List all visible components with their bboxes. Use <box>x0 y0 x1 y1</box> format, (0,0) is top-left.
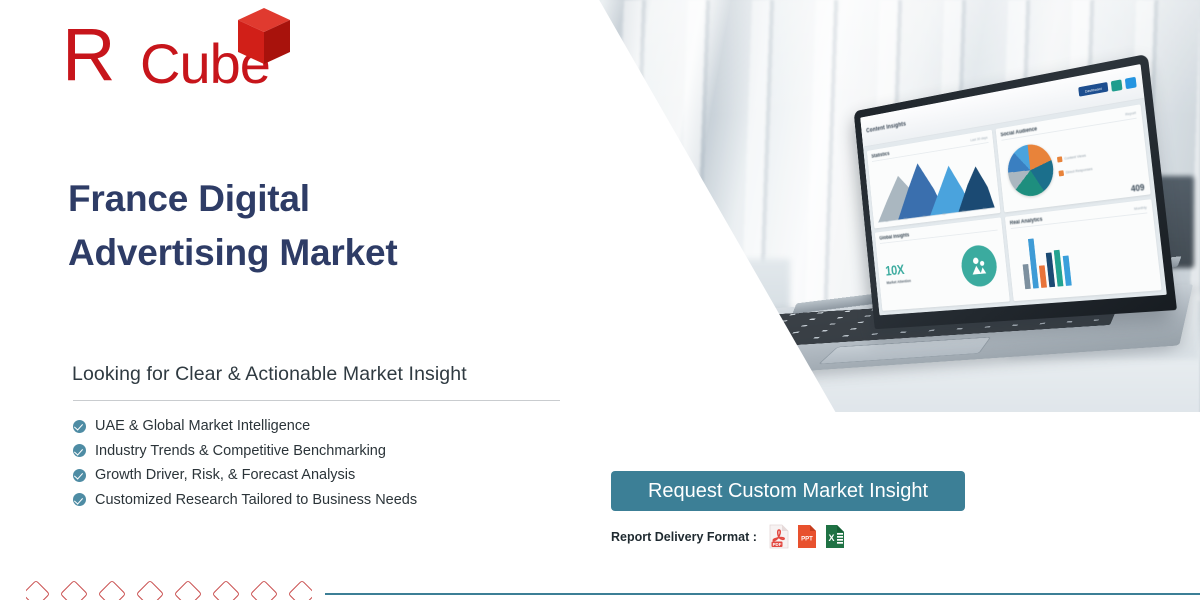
subheading-divider <box>73 400 585 401</box>
panel-title: Real Analytics <box>1010 217 1043 226</box>
red-3d-cube-icon <box>234 6 292 68</box>
laptop: Content Insights Dashboard Statistics <box>775 48 1195 378</box>
logo-letter: Я <box>62 18 115 92</box>
legend-swatch <box>1057 156 1063 162</box>
panel-subtitle: Report <box>1125 110 1136 117</box>
legend-item: Content Views <box>1057 152 1092 163</box>
tick-label: Feb <box>904 216 908 220</box>
pie-chart-panel: Social Audience Report Content Views <box>995 104 1151 212</box>
report-delivery-format-label: Report Delivery Format : <box>611 530 757 544</box>
logo[interactable]: Я Cube <box>62 6 312 102</box>
svg-text:X: X <box>828 533 834 543</box>
tick-label: Mar <box>923 214 927 218</box>
tick-label: Jan <box>885 219 889 223</box>
chevron-icon <box>174 580 202 600</box>
feature-list: UAE & Global Market Intelligence Industr… <box>73 418 543 516</box>
page-title: France Digital Advertising Market <box>68 172 538 280</box>
metric-body: 10X Market Attention <box>880 232 1004 305</box>
check-circle-icon <box>73 469 86 482</box>
legend-item: Direct Responses <box>1058 166 1093 176</box>
bar-chart <box>1011 215 1156 295</box>
metric-panel: Global Insights 10X Market Attention <box>875 217 1010 311</box>
panel-title: Global Insights <box>879 233 909 242</box>
svg-text:PDF: PDF <box>772 542 781 547</box>
pdf-glyph: PDF <box>769 524 789 549</box>
excel-icon[interactable]: X <box>825 524 845 549</box>
chevron-icon <box>26 580 50 600</box>
bar <box>1022 264 1030 290</box>
dashboard-title: Content Insights <box>866 121 906 134</box>
pie-chart-graphic <box>1005 141 1055 199</box>
people-group-glyph <box>968 255 990 276</box>
excel-glyph: X <box>825 524 845 549</box>
bar <box>1053 250 1063 286</box>
blue-icon-button[interactable] <box>1125 77 1137 89</box>
report-delivery-format: Report Delivery Format : PDF PPT <box>611 524 845 549</box>
dashboard-buttons: Dashboard <box>1078 77 1137 98</box>
bar <box>1045 252 1054 287</box>
pie-chart-value: 409 <box>1130 182 1145 193</box>
chevron-icon <box>98 580 126 600</box>
dashboard: Content Insights Dashboard Statistics <box>860 64 1167 315</box>
chevron-icon <box>60 580 88 600</box>
ppt-icon[interactable]: PPT <box>797 524 817 549</box>
primary-action-button[interactable]: Dashboard <box>1078 82 1108 97</box>
legend-swatch <box>1058 170 1064 176</box>
laptop-screen: Content Insights Dashboard Statistics <box>854 54 1177 329</box>
list-item-label: Customized Research Tailored to Business… <box>95 492 417 508</box>
pdf-icon[interactable]: PDF <box>769 524 789 549</box>
tick-label: Apr <box>942 212 946 216</box>
list-item: Growth Driver, Risk, & Forecast Analysis <box>73 467 543 483</box>
ppt-glyph: PPT <box>797 524 817 549</box>
list-item: UAE & Global Market Intelligence <box>73 418 543 434</box>
list-item-label: UAE & Global Market Intelligence <box>95 418 310 434</box>
legend-label: Direct Responses <box>1066 166 1093 174</box>
chevron-icon <box>288 580 312 600</box>
tick-label: Jun <box>982 206 986 210</box>
hero-bottom-mask <box>560 412 1200 426</box>
chevron-icon <box>250 580 278 600</box>
tick-label: May <box>962 209 967 213</box>
teal-icon-button[interactable] <box>1111 79 1123 91</box>
list-item-label: Growth Driver, Risk, & Forecast Analysis <box>95 467 355 483</box>
request-custom-market-insight-button[interactable]: Request Custom Market Insight <box>611 471 965 511</box>
bar <box>1039 266 1047 288</box>
list-item: Industry Trends & Competitive Benchmarki… <box>73 443 543 459</box>
pie-chart-legend: Content Views Direct Responses <box>1057 152 1093 177</box>
panel-subtitle: Monthly <box>1134 205 1147 211</box>
list-item: Customized Research Tailored to Business… <box>73 492 543 508</box>
metric-text: 10X Market Attention <box>882 257 962 285</box>
people-group-icon <box>959 244 998 288</box>
chevron-decoration <box>26 576 312 600</box>
legend-label: Content Views <box>1064 153 1086 161</box>
marketing-banner: Content Insights Dashboard Statistics <box>0 0 1200 600</box>
subheading: Looking for Clear & Actionable Market In… <box>72 363 467 386</box>
panel-subtitle: Last 30 days <box>970 135 988 142</box>
headline-line-1: France Digital <box>68 172 538 226</box>
bottom-divider <box>325 593 1200 595</box>
area-chart-panel: Statistics Last 30 days <box>867 129 1000 228</box>
bar <box>1062 256 1071 286</box>
check-circle-icon <box>73 420 86 433</box>
bar-chart-panel: Real Analytics Monthly <box>1004 199 1161 301</box>
chevron-icon <box>136 580 164 600</box>
headline-line-2: Advertising Market <box>68 226 538 280</box>
check-circle-icon <box>73 493 86 506</box>
panel-title: Social Audience <box>1000 126 1037 138</box>
svg-text:PPT: PPT <box>801 537 813 543</box>
check-circle-icon <box>73 444 86 457</box>
panel-title: Statistics <box>871 151 890 159</box>
chevron-icon <box>212 580 240 600</box>
list-item-label: Industry Trends & Competitive Benchmarki… <box>95 443 386 459</box>
